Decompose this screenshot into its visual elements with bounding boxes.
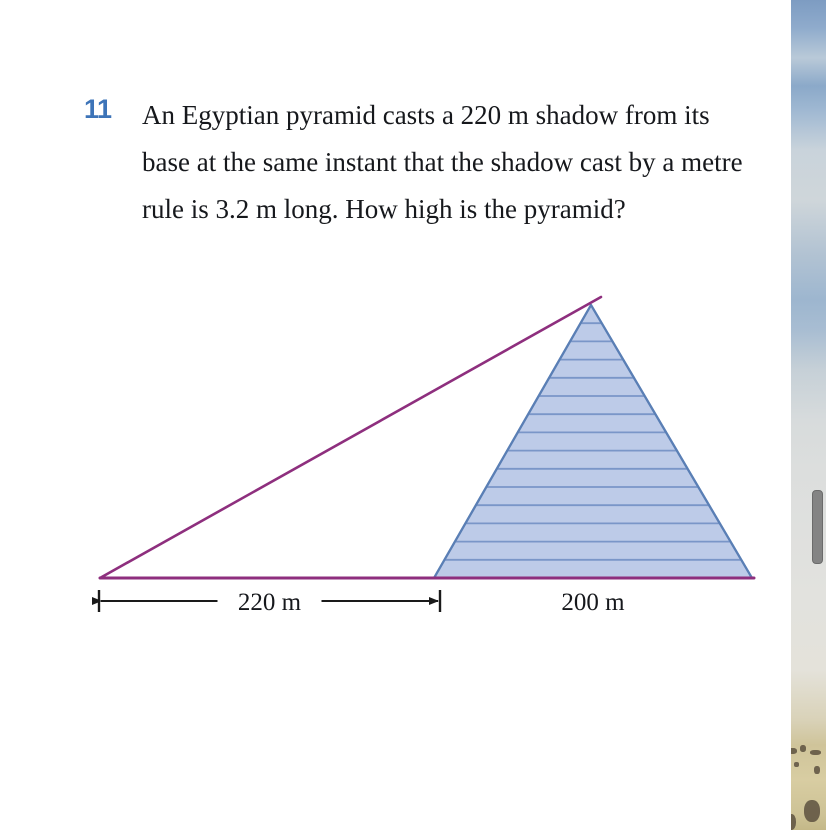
pyramid-outline — [434, 305, 752, 578]
shadow-length-label: 220 m — [238, 589, 302, 616]
photo-strip — [786, 0, 826, 830]
page-root: 11 An Egyptian pyramid casts a 220 m sha… — [0, 0, 826, 830]
photo-strip-left-edge — [786, 0, 791, 830]
scrollbar-thumb[interactable] — [812, 490, 823, 564]
pyramid-layer-lines — [428, 323, 758, 560]
shadow-dimension: 220 m — [99, 589, 440, 616]
base-length-label: 200 m — [561, 589, 625, 616]
question-block: 11 An Egyptian pyramid casts a 220 m sha… — [84, 92, 764, 233]
question-number: 11 — [84, 96, 130, 123]
sun-ray-line — [100, 297, 601, 578]
desert-sky-photo — [786, 0, 826, 830]
pyramid-shape — [434, 305, 752, 578]
question-text: An Egyptian pyramid casts a 220 m shadow… — [142, 92, 762, 233]
